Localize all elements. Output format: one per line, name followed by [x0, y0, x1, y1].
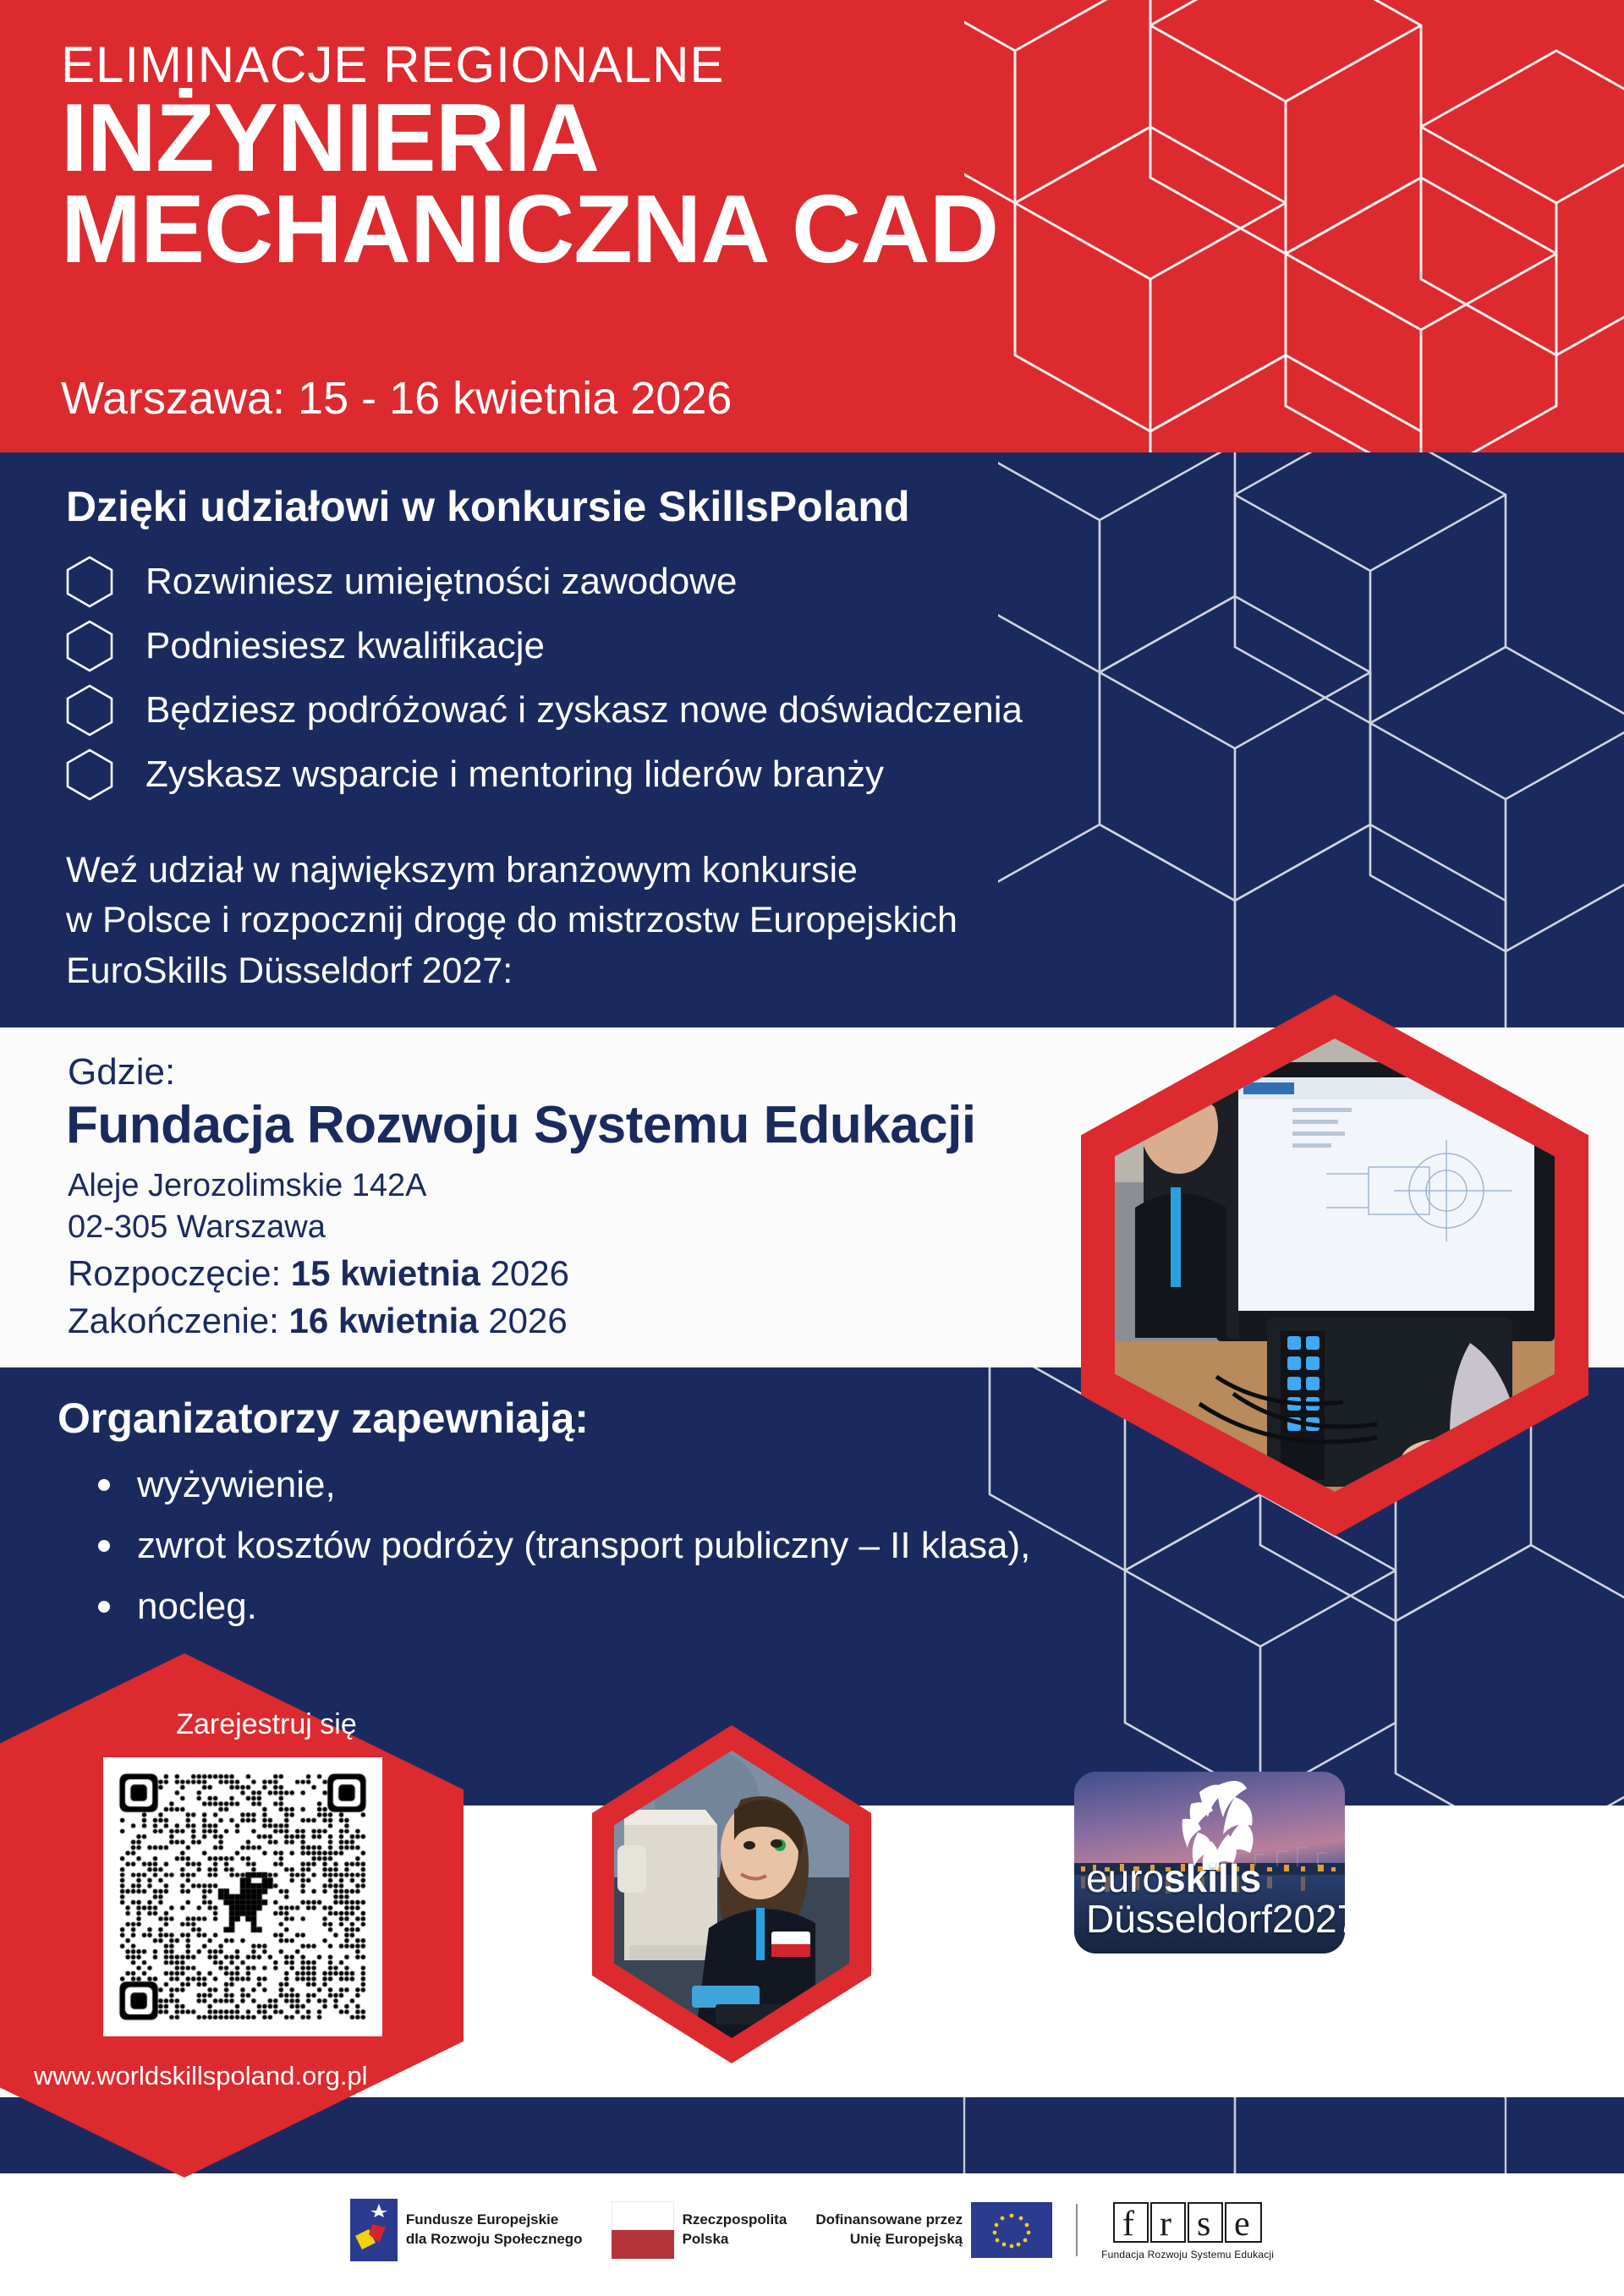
fundusze-europejskie-icon: [350, 2199, 398, 2261]
lead-line-3: EuroSkills Düsseldorf 2027:: [66, 946, 1123, 996]
logo-dofinansowane-ue: Dofinansowane przez Unię Europejską: [815, 2202, 1052, 2258]
logo-fundusze-europejskie: Fundusze Europejskie dla Rozwoju Społecz…: [350, 2199, 583, 2261]
list-item: Będziesz podróżować i zyskasz nowe doświ…: [66, 678, 1182, 743]
logo-line-2: dla Rozwoju Społecznego: [406, 2230, 583, 2249]
competitor-at-computer-photo: [614, 1751, 849, 2038]
end-year: 2026: [488, 1301, 567, 1340]
polish-flag-icon: [612, 2201, 674, 2259]
euroskills-logo[interactable]: euroskills Düsseldorf2027: [1074, 1772, 1345, 1954]
logo-line-1: Fundusze Europejskie: [406, 2211, 583, 2230]
address-street: Aleje Jerozolimskie 142A: [68, 1165, 427, 1207]
title-line-2: MECHANICZNA CAD: [61, 184, 1245, 276]
frse-logo-icon: fr se: [1112, 2200, 1263, 2245]
euroskills-city-year: Düsseldorf2027: [1086, 1899, 1345, 1938]
hexagon-outline-icon: [66, 684, 113, 737]
start-label: Rozpoczęcie:: [68, 1253, 281, 1293]
start-year: 2026: [491, 1253, 569, 1293]
svg-text:s: s: [1197, 2205, 1210, 2244]
hexagon-outline-icon: [66, 556, 113, 608]
list-item: wyżywienie,: [88, 1455, 1145, 1515]
euroskills-euro: euro: [1086, 1856, 1164, 1900]
start-row: Rozpoczęcie: 15 kwietnia 2026: [68, 1250, 569, 1297]
website-url[interactable]: www.worldskillspoland.org.pl: [34, 2061, 474, 2091]
provisions-heading: Organizatorzy zapewniają:: [58, 1394, 589, 1443]
footer-divider: [1076, 2204, 1078, 2256]
provision-label: wyżywienie,: [137, 1466, 336, 1504]
logo-line-1: Rzeczpospolita: [683, 2211, 787, 2230]
page-title: INŻYNIERIA MECHANICZNA CAD: [61, 93, 1245, 277]
benefit-label: Zyskasz wsparcie i mentoring liderów bra…: [145, 756, 884, 793]
end-label: Zakończenie:: [68, 1301, 279, 1340]
lead-line-1: Weź udział w największym branżowym konku…: [66, 846, 1123, 896]
benefit-label: Rozwiniesz umiejętności zawodowe: [145, 563, 737, 600]
poster-root: ELIMINACJE REGIONALNE INŻYNIERIA MECHANI…: [0, 0, 1624, 2296]
qr-canvas[interactable]: [103, 1757, 382, 2036]
benefit-label: Będziesz podróżować i zyskasz nowe doświ…: [145, 692, 1023, 729]
qr-code-icon[interactable]: [103, 1757, 382, 2036]
frse-caption: Fundacja Rozwoju Systemu Edukacji: [1101, 2249, 1274, 2260]
provision-label: zwrot kosztów podróży (transport publicz…: [137, 1527, 1030, 1564]
logo-rzeczpospolita-polska: Rzeczpospolita Polska: [612, 2201, 787, 2259]
logo-frse: fr se Fundacja Rozwoju Systemu Edukacji: [1101, 2200, 1274, 2260]
svg-text:f: f: [1122, 2205, 1134, 2244]
svg-text:e: e: [1234, 2205, 1250, 2244]
hexagon-outline-icon: [66, 620, 113, 672]
list-item: nocleg.: [88, 1576, 1145, 1637]
benefit-label: Podniesiesz kwalifikacje: [145, 627, 545, 665]
end-row: Zakończenie: 16 kwietnia 2026: [68, 1297, 569, 1345]
logo-line-2: Unię Europejską: [815, 2230, 963, 2249]
list-item: Zyskasz wsparcie i mentoring liderów bra…: [66, 743, 1182, 807]
euroskills-skills: skills: [1164, 1856, 1261, 1900]
venue-address: Aleje Jerozolimskie 142A 02-305 Warszawa: [68, 1165, 427, 1247]
lead-paragraph: Weź udział w największym branżowym konku…: [66, 846, 1123, 996]
provision-label: nocleg.: [137, 1588, 257, 1625]
benefits-heading: Dzięki udziałowi w konkursie SkillsPolan…: [66, 482, 910, 531]
cad-workstation-photo: [1115, 1038, 1555, 1492]
venue-times: Rozpoczęcie: 15 kwietnia 2026 Zakończeni…: [68, 1250, 569, 1345]
hexagon-outline-icon: [66, 748, 113, 801]
logo-line-2: Polska: [683, 2230, 787, 2249]
address-city: 02-305 Warszawa: [68, 1207, 427, 1248]
logo-text: Dofinansowane przez Unię Europejską: [815, 2211, 963, 2249]
footer-logo-bar: Fundusze Europejskie dla Rozwoju Społecz…: [0, 2184, 1624, 2277]
list-item: Podniesiesz kwalifikacje: [66, 614, 1182, 678]
svg-text:r: r: [1160, 2205, 1171, 2244]
list-item: zwrot kosztów podróży (transport publicz…: [88, 1515, 1145, 1576]
venue-label: Gdzie:: [68, 1051, 175, 1093]
euroskills-wordmark: euroskills Düsseldorf2027: [1086, 1859, 1345, 1938]
start-date: 15 kwietnia: [291, 1253, 480, 1293]
end-date: 16 kwietnia: [288, 1301, 478, 1340]
event-date-line: Warszawa: 15 - 16 kwietnia 2026: [61, 372, 732, 425]
logo-line-1: Dofinansowane przez: [815, 2211, 963, 2230]
register-label: Zarejestruj się: [127, 1708, 406, 1741]
logo-text: Rzeczpospolita Polska: [683, 2211, 787, 2249]
logo-text: Fundusze Europejskie dla Rozwoju Społecz…: [406, 2211, 583, 2249]
list-item: Rozwiniesz umiejętności zawodowe: [66, 550, 1182, 614]
benefits-list: Rozwiniesz umiejętności zawodowe Podnies…: [66, 550, 1182, 807]
venue-name: Fundacja Rozwoju Systemu Edukacji: [66, 1095, 976, 1155]
lead-line-2: w Polsce i rozpocznij drogę do mistrzost…: [66, 896, 1123, 945]
eu-flag-icon: [971, 2202, 1052, 2258]
provisions-list: wyżywienie, zwrot kosztów podróży (trans…: [88, 1455, 1145, 1637]
